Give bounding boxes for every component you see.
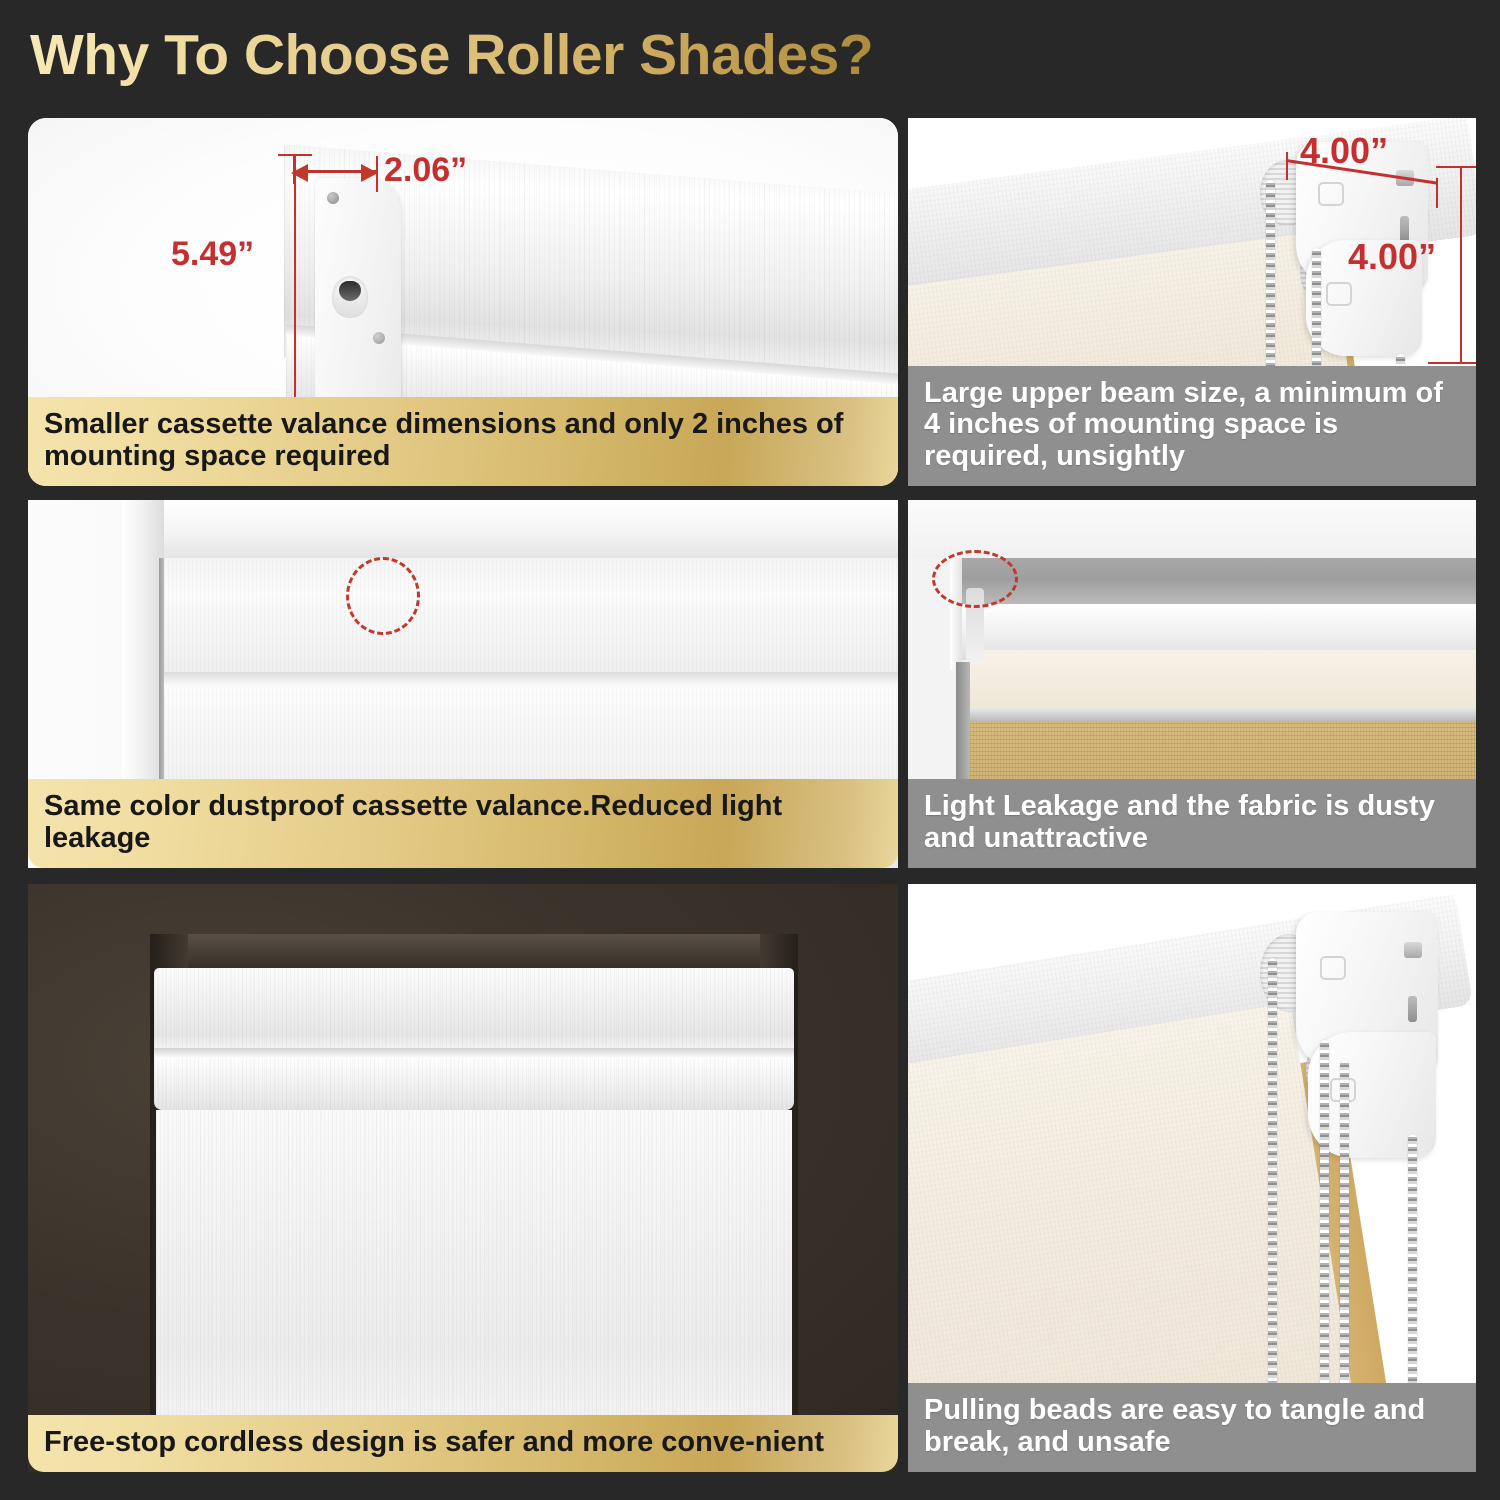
- valance-texture: [164, 558, 898, 674]
- infographic-root: Why To Choose Roller Shades?: [0, 0, 1500, 1500]
- cassette-valance-face: [164, 558, 898, 674]
- highlight-circle: [346, 557, 420, 635]
- dim-cap-top: [278, 154, 312, 156]
- dimension-label-width: 2.06”: [384, 151, 467, 190]
- cassette-valance: [154, 968, 794, 1054]
- window-frame-top: [122, 500, 898, 558]
- dimension-label-height: 5.49”: [171, 235, 254, 274]
- dimension-label-width: 4.00”: [1300, 130, 1388, 172]
- valance-bottom-rail: [164, 672, 898, 686]
- screw-icon: [327, 192, 339, 204]
- screw-icon: [373, 332, 385, 344]
- roller-tube-shadow: [956, 558, 1476, 610]
- caption-panel-2: Large upper beam size, a minimum of 4 in…: [908, 366, 1476, 486]
- dim-line-height: [294, 154, 296, 430]
- ceiling-surface: [908, 500, 1476, 558]
- caption-panel-6: Pulling beads are easy to tangle and bre…: [908, 1383, 1476, 1472]
- panel-pulling-beads: Pulling beads are easy to tangle and bre…: [908, 884, 1476, 1472]
- panel-5-photo: [28, 884, 898, 1472]
- dim-cap-bottom: [1428, 362, 1476, 364]
- dim-line-height: [1460, 166, 1462, 364]
- valance-texture: [154, 968, 794, 1054]
- dim-cap-top: [1436, 166, 1476, 168]
- fabric-texture: [156, 1110, 792, 1450]
- caption-panel-3: Same color dustproof cassette valance.Re…: [28, 779, 898, 868]
- caption-panel-1: Smaller cassette valance dimensions and …: [28, 397, 898, 486]
- recess-header: [150, 934, 798, 968]
- fabric-rail: [966, 708, 1476, 722]
- panel-large-beam: 4.00” 4.00” Large upper beam size, a min…: [908, 118, 1476, 486]
- shade-fabric: [156, 1110, 792, 1450]
- caption-panel-5: Free-stop cordless design is safer and m…: [28, 1415, 898, 1472]
- clutch-mechanism: [332, 276, 368, 318]
- panel-large-gap: Large gap Light Leakage and the fabric i…: [908, 500, 1476, 868]
- bracket-notch: [1404, 942, 1422, 958]
- highlight-circle: [932, 550, 1018, 608]
- bracket-slot: [1408, 996, 1417, 1022]
- caption-panel-4: Light Leakage and the fabric is dusty an…: [908, 779, 1476, 868]
- rotation-arrow-icon: [1326, 282, 1352, 306]
- cassette-lower-texture: [154, 1058, 794, 1110]
- cassette-lower: [154, 1058, 794, 1110]
- dim-arrow-right: [361, 164, 378, 182]
- panel-smaller-gap: smaller gap Same color dustproof cassett…: [28, 500, 898, 868]
- panel-smaller-cassette: 2.06” 5.49” Smaller cassette valance dim…: [28, 118, 898, 486]
- rotation-arrow-icon: [1320, 956, 1346, 980]
- dim-tick-left: [1286, 152, 1288, 180]
- cassette-lip: [154, 1048, 794, 1058]
- panel-cordless-design: Free-stop cordless design is safer and m…: [28, 884, 898, 1472]
- cream-fabric-band: [970, 650, 1476, 712]
- dimension-label-height: 4.00”: [1348, 236, 1436, 278]
- panel-grid: 2.06” 5.49” Smaller cassette valance dim…: [0, 0, 1500, 1500]
- rotation-arrow-icon: [1318, 182, 1344, 206]
